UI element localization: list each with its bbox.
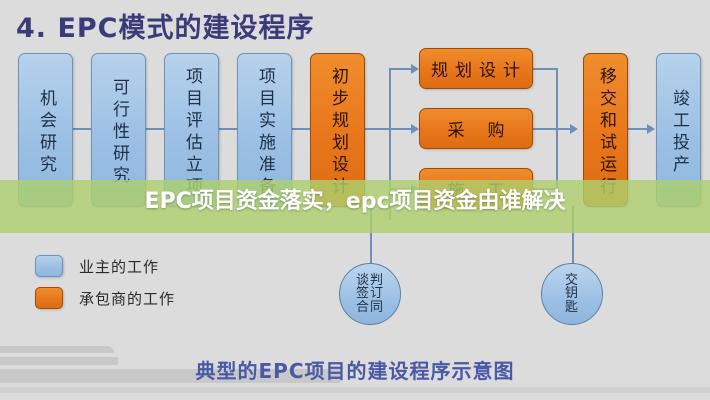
connector-arrow	[570, 124, 578, 134]
legend-swatch-contractor	[35, 287, 63, 309]
connector-arrow	[411, 64, 419, 74]
decorative-shape	[0, 387, 710, 393]
milestone-contract-label: 谈判 签订 合同	[356, 274, 384, 315]
legend: 业主的工作 承包商的工作	[35, 255, 175, 319]
node-procurement-char2: 购	[488, 116, 505, 141]
legend-label-contractor: 承包商的工作	[79, 288, 175, 309]
connector-bus	[556, 68, 558, 130]
connector-arrow	[411, 124, 419, 134]
diagram-caption: 典型的EPC项目的建设程序示意图	[0, 355, 710, 384]
legend-label-owner: 业主的工作	[79, 256, 159, 277]
connector-line	[533, 128, 573, 130]
node-design[interactable]: 规划设计	[419, 48, 533, 89]
connector-line	[533, 68, 558, 70]
node-procurement[interactable]: 采 购	[419, 108, 533, 149]
legend-swatch-owner	[35, 255, 63, 277]
node-procurement-char1: 采	[448, 116, 465, 141]
connector-arrow	[647, 124, 655, 134]
legend-item-contractor: 承包商的工作	[35, 287, 175, 309]
legend-item-owner: 业主的工作	[35, 255, 175, 277]
page-title: 4. EPC模式的建设程序	[16, 6, 315, 45]
milestone-contract-signing[interactable]: 谈判 签订 合同	[339, 263, 401, 325]
milestone-key-handover[interactable]: 交 钥 匙	[541, 263, 603, 325]
connector-line	[365, 128, 391, 130]
diagram-canvas: 4. EPC模式的建设程序 机会研究 可行性研究 项目评估立项 项目实施准备 初…	[0, 0, 710, 400]
watermark-text: EPC项目资金落实，epc项目资金由谁解决	[0, 183, 710, 215]
milestone-key-label: 交 钥 匙	[565, 274, 579, 315]
decorative-shape	[0, 346, 114, 353]
